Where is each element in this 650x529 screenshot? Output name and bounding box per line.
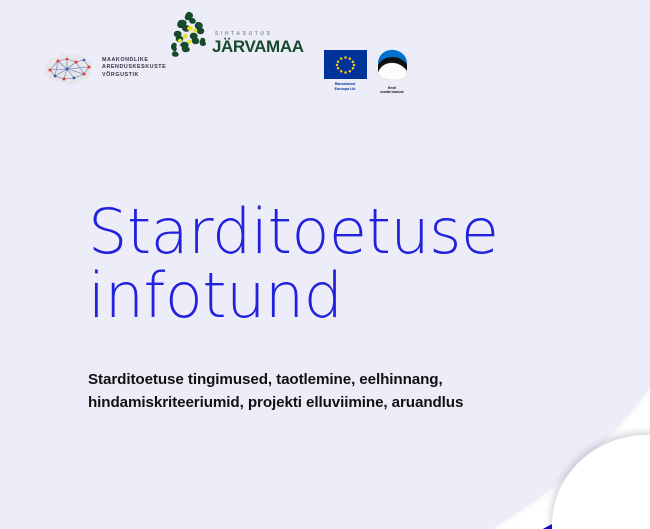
jarvamaa-logo-text: SIHTASUTUS JÄRVAMAA bbox=[212, 31, 304, 55]
mak-line-1: MAAKONDLIKE bbox=[102, 57, 166, 65]
jarvamaa-main-label: JÄRVAMAA bbox=[212, 38, 304, 55]
eesti-riigilogo: Eesti toetab teadust bbox=[370, 48, 414, 95]
mak-logo-text: MAAKONDLIKE ARENDUSKESKUSTE VÕRGUSTIK bbox=[102, 57, 166, 80]
page-subtitle: Starditoetuse tingimused, taotlemine, ee… bbox=[88, 368, 568, 414]
european-union-emblem: Rahastanud Euroopa Liit bbox=[322, 50, 368, 91]
mak-line-3: VÕRGUSTIK bbox=[102, 72, 166, 80]
maakondlike-arenduskeskuste-vorgustik-logo: MAAKONDLIKE ARENDUSKESKUSTE VÕRGUSTIK bbox=[40, 48, 166, 88]
jarvamaa-leaf-icon bbox=[168, 10, 214, 58]
estonia-flag-swoosh-icon bbox=[374, 48, 410, 84]
network-map-icon bbox=[40, 48, 96, 88]
eu-flag-icon bbox=[324, 50, 367, 79]
mak-line-2: ARENDUSKESKUSTE bbox=[102, 64, 166, 72]
page-title: Starditoetuse infotund bbox=[88, 200, 568, 328]
text-content: Starditoetuse infotund Starditoetuse tin… bbox=[88, 200, 568, 414]
eesti-logo-caption: Eesti toetab teadust bbox=[370, 86, 414, 95]
sihtasutus-jarvamaa-logo: SIHTASUTUS JÄRVAMAA bbox=[168, 10, 304, 58]
eu-emblem-caption: Rahastanud Euroopa Liit bbox=[322, 82, 368, 91]
slide-canvas: MAAKONDLIKE ARENDUSKESKUSTE VÕRGUSTIK bbox=[0, 0, 650, 529]
